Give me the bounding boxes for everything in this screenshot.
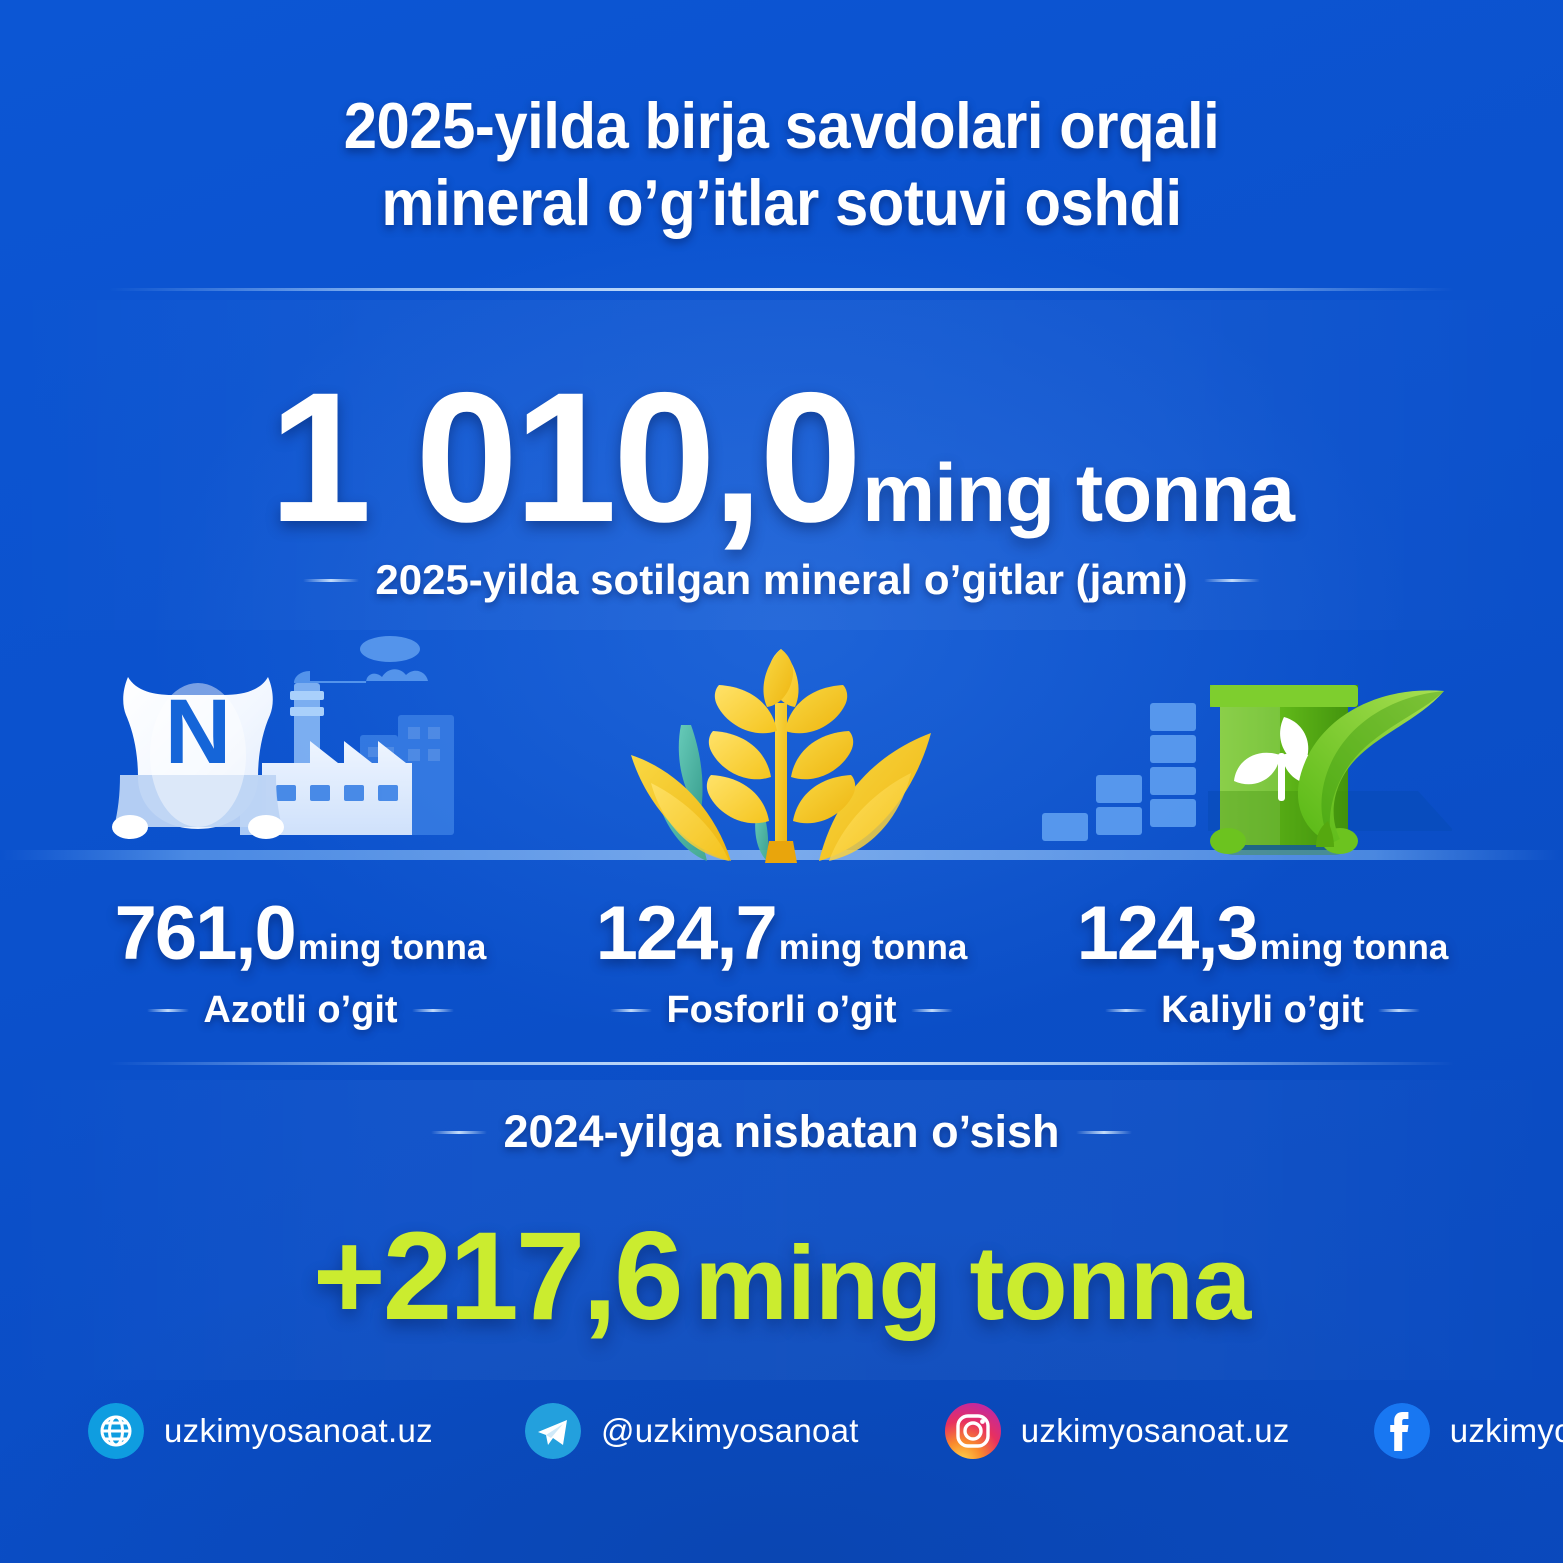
category-stats-row: 761,0ming tonna Azotli o’git 124,7ming t… bbox=[60, 890, 1503, 1032]
hero-caption-text: 2025-yilda sotilgan mineral o’gitlar (ja… bbox=[375, 556, 1187, 604]
fertilizer-bag-nitrogen-factory-icon: N bbox=[98, 635, 518, 875]
stat-nitrogen-label-text: Azotli o’git bbox=[203, 989, 397, 1032]
caption-dash-left bbox=[431, 1131, 487, 1134]
category-icon-nitrogen: N bbox=[60, 625, 541, 875]
page-title-line-2: mineral o’g’itlar sotuvi oshdi bbox=[63, 165, 1501, 242]
stat-phosphorus-label: Fosforli o’git bbox=[541, 989, 1022, 1032]
footer-facebook-text: uzkimyosanoat bbox=[1450, 1412, 1563, 1450]
hero-total: 1 010,0ming tonna bbox=[0, 352, 1563, 564]
stat-potassium-label-text: Kaliyli o’git bbox=[1161, 989, 1364, 1032]
label-dash-right bbox=[911, 1009, 953, 1012]
growth-value-block: +217,6ming tonna bbox=[0, 1205, 1563, 1348]
label-dash-right bbox=[1378, 1009, 1420, 1012]
label-dash-left bbox=[147, 1009, 189, 1012]
category-icon-potassium bbox=[1022, 625, 1503, 875]
caption-dash-left bbox=[303, 579, 359, 582]
caption-dash-right bbox=[1076, 1131, 1132, 1134]
category-icon-phosphorus bbox=[541, 625, 1022, 875]
stat-potassium: 124,3ming tonna Kaliyli o’git bbox=[1022, 890, 1503, 1032]
hero-value: 1 010,0 bbox=[269, 355, 858, 561]
stat-potassium-row: 124,3ming tonna bbox=[1022, 890, 1503, 977]
stat-potassium-unit: ming tonna bbox=[1260, 928, 1449, 967]
footer-link-website[interactable]: uzkimyosanoat.uz bbox=[88, 1403, 433, 1459]
stat-phosphorus-row: 124,7ming tonna bbox=[541, 890, 1022, 977]
stat-nitrogen-row: 761,0ming tonna bbox=[60, 890, 541, 977]
label-dash-right bbox=[412, 1009, 454, 1012]
stat-phosphorus-value: 124,7 bbox=[596, 891, 776, 976]
facebook-icon bbox=[1374, 1403, 1430, 1459]
page-title: 2025-yilda birja savdolari orqali minera… bbox=[63, 88, 1501, 241]
stat-nitrogen-value: 761,0 bbox=[115, 891, 295, 976]
stat-potassium-label: Kaliyli o’git bbox=[1022, 989, 1503, 1032]
stat-potassium-value: 124,3 bbox=[1077, 891, 1257, 976]
divider-above-growth bbox=[109, 1062, 1453, 1065]
footer-instagram-text: uzkimyosanoat.uz bbox=[1021, 1412, 1290, 1450]
growth-value: +217,6 bbox=[313, 1207, 681, 1346]
hero-unit: ming tonna bbox=[862, 448, 1294, 539]
page-title-line-1: 2025-yilda birja savdolari orqali bbox=[63, 88, 1501, 165]
footer-link-telegram[interactable]: @uzkimyosanoat bbox=[525, 1403, 859, 1459]
hero-caption: 2025-yilda sotilgan mineral o’gitlar (ja… bbox=[0, 556, 1563, 604]
growth-unit: ming tonna bbox=[695, 1225, 1251, 1342]
stat-nitrogen-unit: ming tonna bbox=[298, 928, 487, 967]
footer-telegram-text: @uzkimyosanoat bbox=[601, 1412, 859, 1450]
footer-website-text: uzkimyosanoat.uz bbox=[164, 1412, 433, 1450]
label-dash-left bbox=[1105, 1009, 1147, 1012]
caption-dash-right bbox=[1204, 579, 1260, 582]
wheat-ear-icon bbox=[611, 633, 951, 873]
stat-phosphorus: 124,7ming tonna Fosforli o’git bbox=[541, 890, 1022, 1032]
stat-nitrogen: 761,0ming tonna Azotli o’git bbox=[60, 890, 541, 1032]
growth-caption-text: 2024-yilga nisbatan o’sish bbox=[503, 1106, 1059, 1158]
stat-nitrogen-label: Azotli o’git bbox=[60, 989, 541, 1032]
stat-phosphorus-unit: ming tonna bbox=[779, 928, 968, 967]
growth-caption: 2024-yilga nisbatan o’sish bbox=[0, 1106, 1563, 1158]
telegram-icon bbox=[525, 1403, 581, 1459]
label-dash-left bbox=[610, 1009, 652, 1012]
globe-icon bbox=[88, 1403, 144, 1459]
green-fertilizer-bag-leaf-icon bbox=[1032, 635, 1452, 875]
instagram-icon bbox=[945, 1403, 1001, 1459]
footer-link-instagram[interactable]: uzkimyosanoat.uz bbox=[945, 1403, 1290, 1459]
infographic-poster: 2025-yilda birja savdolari orqali minera… bbox=[0, 0, 1563, 1563]
svg-text:N: N bbox=[165, 681, 231, 783]
footer-link-facebook[interactable]: uzkimyosanoat bbox=[1374, 1403, 1563, 1459]
divider-under-title bbox=[109, 288, 1453, 291]
footer-social-bar: uzkimyosanoat.uz @uzkimyosanoat bbox=[0, 1376, 1563, 1486]
stat-phosphorus-label-text: Fosforli o’git bbox=[666, 989, 896, 1032]
category-icons-row: N bbox=[60, 625, 1503, 875]
